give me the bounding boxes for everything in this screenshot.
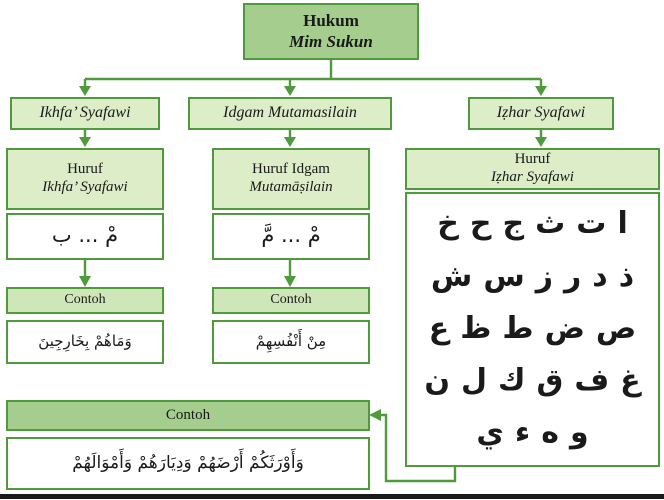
branch-title-idgam: Idgam Mutamasilain	[188, 97, 392, 130]
letter-row: ذدرزسش	[417, 261, 648, 293]
root-title-line2: Mim Sukun	[289, 32, 373, 52]
izhar-letters-box: اتثجحخ ذدرزسش صضطظع غفقكلن وهءي	[405, 192, 660, 467]
arabic-letter: ف	[574, 365, 609, 397]
branch-title-idgam-label: Idgam Mutamasilain	[223, 104, 357, 123]
arabic-letter: ع	[429, 313, 450, 345]
branch-title-ikhfa-label: Ikhfa’ Syafawi	[39, 104, 130, 123]
huruf-izhar-prefix: Huruf	[515, 151, 551, 169]
huruf-ikhfa-line2: Ikhfa’ Syafawi	[42, 179, 127, 197]
arabic-letter: ر	[564, 261, 581, 293]
letter-row: غفقكلن	[417, 365, 648, 397]
arabic-letter: ز	[536, 261, 553, 293]
pattern-idgam-text: مْ ... مَّ	[261, 223, 320, 248]
arabic-letter: ا	[617, 208, 627, 240]
arabic-letter: ت	[576, 208, 606, 240]
arabic-letter: ظ	[460, 313, 491, 345]
branch-title-izhar: Iẓhar Syafawi	[468, 97, 614, 130]
contoh-header-ikhfa-label: Contoh	[64, 292, 105, 309]
huruf-izhar-label: Iẓhar Syafawi	[491, 169, 574, 187]
huruf-izhar-box: Huruf Iẓhar Syafawi	[405, 148, 660, 190]
mim-sukun-diagram: Hukum Mim Sukun Ikhfa’ Syafawi Idgam Mut…	[0, 0, 664, 500]
letter-row: اتثجحخ	[417, 208, 648, 240]
arabic-letter: د	[592, 261, 607, 293]
pattern-ikhfa-box: مْ ... ب	[6, 213, 164, 260]
arabic-letter: ط	[502, 313, 533, 345]
arrowhead-ikhfa-contoh	[79, 276, 91, 287]
verse-izhar-text: وَأَوْرَثَكُمْ أَرْضَهُمْ وَدِيَارَهُمْ …	[72, 453, 304, 473]
arabic-letter: خ	[437, 208, 459, 240]
arrowhead-ikhfa	[79, 86, 91, 96]
huruf-ikhfa-box: Huruf Ikhfa’ Syafawi	[6, 148, 164, 210]
contoh-header-izhar: Contoh	[6, 400, 370, 431]
arrowhead-idgam-contoh	[284, 276, 296, 287]
arrowhead-idgam-huruf	[284, 137, 296, 147]
letter-row: صضطظع	[417, 313, 648, 345]
verse-ikhfa-box: وَمَاهُمْ بِخَارِجِينَ	[6, 320, 164, 364]
contoh-header-izhar-label: Contoh	[166, 407, 210, 425]
arabic-letter: ق	[536, 365, 563, 397]
huruf-ikhfa-line1: Huruf	[67, 161, 103, 179]
arabic-letter: ض	[545, 313, 585, 345]
arrowhead-bottom-contoh	[369, 409, 381, 421]
verse-idgam-text: مِنْ أَنْفُسِهِمْ	[256, 333, 326, 351]
verse-idgam-box: مِنْ أَنْفُسِهِمْ	[212, 320, 370, 364]
letter-row: وهءي	[417, 417, 648, 449]
contoh-header-ikhfa: Contoh	[6, 287, 164, 314]
branch-title-ikhfa: Ikhfa’ Syafawi	[10, 97, 160, 130]
verse-ikhfa-text: وَمَاهُمْ بِخَارِجِينَ	[38, 333, 131, 351]
page-bottom-rule	[0, 494, 664, 499]
contoh-header-idgam: Contoh	[212, 287, 370, 314]
verse-izhar-box: وَأَوْرَثَكُمْ أَرْضَهُمْ وَدِيَارَهُمْ …	[6, 437, 370, 490]
arrowhead-izhar	[535, 86, 547, 96]
arabic-letter: ي	[476, 417, 504, 449]
arrowhead-ikhfa-huruf	[79, 137, 91, 147]
arabic-letter: س	[483, 261, 524, 293]
huruf-idgam-line1: Huruf Idgam	[252, 161, 330, 179]
arabic-letter: ك	[498, 365, 526, 397]
arabic-letter: ش	[431, 261, 472, 293]
arabic-letter: ج	[503, 208, 525, 240]
arabic-letter: ص	[596, 313, 636, 345]
arabic-letter: ه	[541, 417, 559, 449]
arabic-letter: ث	[535, 208, 565, 240]
arabic-letter: ن	[424, 365, 450, 397]
root-node: Hukum Mim Sukun	[243, 3, 419, 60]
huruf-idgam-box: Huruf Idgam Mutamāṣilain	[212, 148, 370, 210]
root-title-line1: Hukum	[303, 11, 359, 31]
arabic-letter: ل	[461, 365, 487, 397]
arabic-letter: ذ	[619, 261, 634, 293]
arrowhead-idgam	[284, 86, 296, 96]
pattern-ikhfa-text: مْ ... ب	[52, 223, 118, 248]
arabic-letter: ح	[470, 208, 492, 240]
arabic-letter: غ	[620, 365, 641, 397]
huruf-idgam-line2: Mutamāṣilain	[249, 179, 332, 197]
contoh-header-idgam-label: Contoh	[270, 292, 311, 309]
pattern-idgam-box: مْ ... مَّ	[212, 213, 370, 260]
arrowhead-izhar-huruf	[535, 137, 547, 147]
arabic-letter: ء	[515, 417, 530, 449]
branch-title-izhar-label: Iẓhar Syafawi	[497, 104, 585, 123]
arabic-letter: و	[570, 417, 589, 449]
